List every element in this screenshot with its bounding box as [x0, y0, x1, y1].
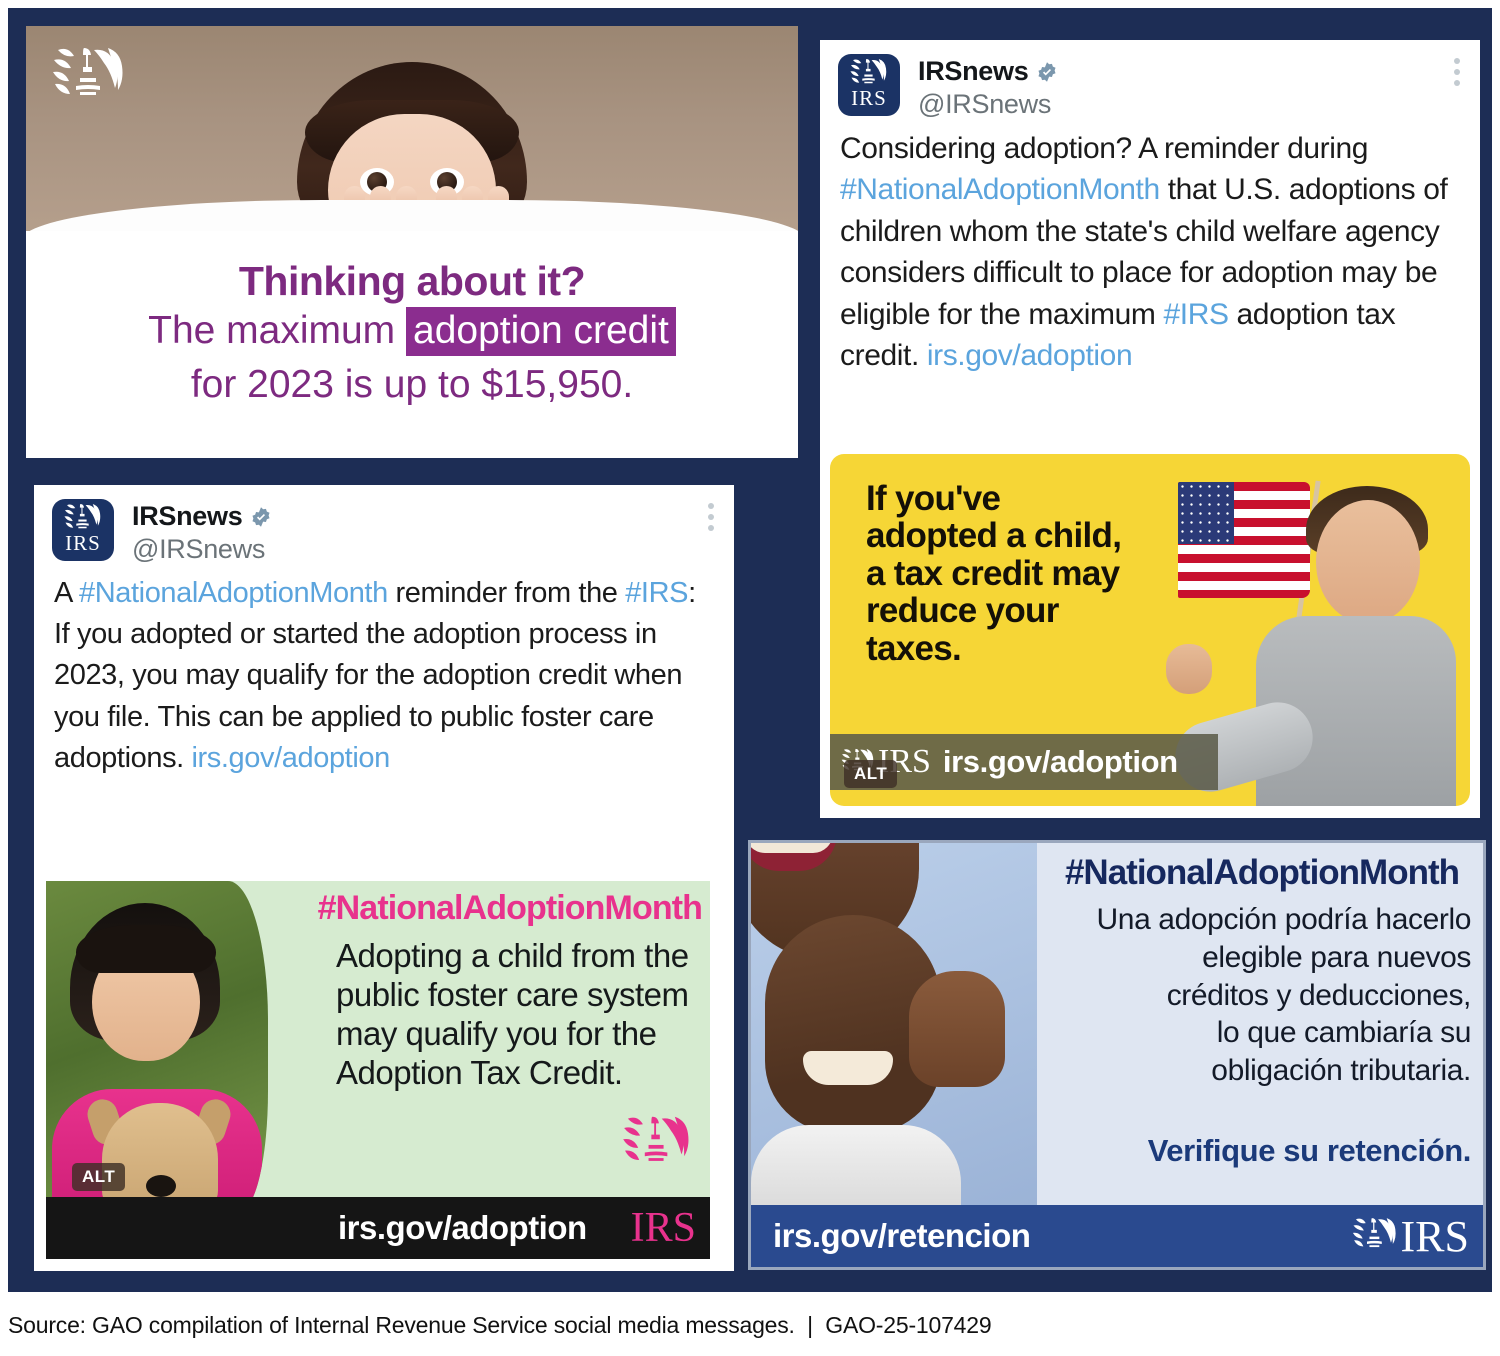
tweet-author-row: IRSnews: [918, 56, 1462, 87]
tweet-card-national-adoption-month-reminder[interactable]: IRS IRSnews @IRSnews A #NationalAdoption…: [34, 485, 734, 1271]
tweet-seg: reminder from the: [388, 577, 625, 609]
irs-seal-icon: [620, 1113, 694, 1175]
hashtag-irs[interactable]: #IRS: [625, 577, 688, 609]
verified-badge-icon: [250, 506, 272, 528]
hero-highlight: adoption credit: [406, 307, 676, 356]
tweet-author-row: IRSnews: [132, 501, 716, 532]
yellow-headline: If you've adopted a child, a tax credit …: [866, 480, 1136, 667]
verified-badge-icon: [1036, 61, 1058, 83]
avatar[interactable]: IRS: [52, 499, 114, 561]
avatar[interactable]: IRS: [838, 54, 900, 116]
avatar-irs-wordmark: IRS: [838, 86, 900, 111]
tweet-header: IRS IRSnews @IRSnews: [820, 40, 1480, 124]
source-note: Source: GAO compilation of Internal Reve…: [8, 1312, 991, 1339]
child-smile: [803, 1051, 893, 1085]
tweet-seg: A: [54, 577, 79, 609]
spanish-body-line: obligación tributaria.: [1047, 1052, 1471, 1090]
mother-hand: [909, 971, 1005, 1087]
alt-badge[interactable]: ALT: [844, 760, 897, 788]
hero-headline: Thinking about it?: [26, 259, 798, 303]
green-hashtag: #NationalAdoptionMonth: [260, 889, 702, 928]
irs-wordmark: IRS: [1401, 1211, 1469, 1262]
yellow-adoption-tax-credit-creative[interactable]: If you've adopted a child, a tax credit …: [830, 454, 1470, 806]
spanish-body-line: Una adopción podría hacerlo: [1047, 901, 1471, 939]
boy-hand: [1166, 644, 1212, 694]
tweet-display-name: IRSnews: [918, 56, 1028, 87]
irs-wordmark: IRS: [631, 1204, 696, 1252]
spanish-cta: Verifique su retención.: [1148, 1133, 1471, 1169]
hero-subline-1: The maximum adoption credit: [26, 307, 798, 355]
spanish-body-line: créditos y deducciones,: [1047, 977, 1471, 1015]
us-flag-icon: [1178, 482, 1310, 598]
kebab-menu-icon[interactable]: [708, 503, 714, 531]
figure-navy-frame: Thinking about it? The maximum adoption …: [8, 8, 1492, 1292]
spanish-footer-bar: irs.gov/retencion IRS: [751, 1205, 1483, 1267]
hero-text-block: Thinking about it? The maximum adoption …: [26, 231, 798, 458]
child-shirt: [751, 1125, 961, 1211]
avatar-irs-wordmark: IRS: [52, 531, 114, 556]
spanish-url[interactable]: irs.gov/retencion: [773, 1217, 1030, 1255]
irs-lockup: IRS: [1351, 1211, 1469, 1262]
kebab-menu-icon[interactable]: [1454, 58, 1460, 86]
mother-and-child-photo: [751, 843, 1037, 1211]
spanish-hashtag: #NationalAdoptionMonth: [1051, 853, 1473, 893]
irs-seal-icon: [1351, 1214, 1399, 1258]
tweet-link-irs-gov-adoption[interactable]: irs.gov/adoption: [192, 742, 390, 774]
tweet-body-text: A #NationalAdoptionMonth reminder from t…: [34, 569, 734, 779]
spanish-retencion-creative[interactable]: #NationalAdoptionMonth Una adopción podr…: [748, 840, 1486, 1270]
hero-subline-2: for 2023 is up to $15,950.: [26, 361, 798, 409]
tweet-body-text: Considering adoption? A reminder during …: [820, 124, 1480, 376]
hashtag-irs[interactable]: #IRS: [1163, 298, 1228, 331]
green-footer-bar: irs.gov/adoption IRS: [46, 1197, 710, 1259]
tweet-handle: @IRSnews: [132, 534, 716, 565]
boy-head: [1316, 500, 1420, 624]
tweet-link-irs-gov-adoption[interactable]: irs.gov/adoption: [927, 339, 1132, 372]
spanish-body-line: lo que cambiaría su: [1047, 1014, 1471, 1052]
green-headline: Adopting a child from the public foster …: [336, 937, 696, 1093]
spanish-body-line: elegible para nuevos: [1047, 939, 1471, 977]
girl-bangs: [76, 925, 216, 973]
green-foster-care-creative[interactable]: #NationalAdoptionMonth Adopting a child …: [46, 881, 710, 1259]
dog-nose: [146, 1175, 176, 1197]
tweet-handle: @IRSnews: [918, 89, 1462, 120]
tweet-header: IRS IRSnews @IRSnews: [34, 485, 734, 569]
spanish-body-text: Una adopción podría hacerlo elegible par…: [1047, 901, 1471, 1090]
yellow-url[interactable]: irs.gov/adoption: [943, 744, 1178, 780]
tweet-display-name: IRSnews: [132, 501, 242, 532]
alt-badge[interactable]: ALT: [72, 1163, 125, 1191]
hero-subline-prefix: The maximum: [148, 309, 406, 352]
hashtag-national-adoption-month[interactable]: #NationalAdoptionMonth: [79, 577, 388, 609]
irs-adoption-credit-hero-card: Thinking about it? The maximum adoption …: [26, 26, 798, 458]
irs-seal-icon: [50, 44, 128, 110]
green-url[interactable]: irs.gov/adoption: [338, 1209, 587, 1247]
hero-photo: [26, 26, 798, 234]
tweet-card-considering-adoption[interactable]: IRS IRSnews @IRSnews Considering adoptio…: [820, 40, 1480, 818]
tweet-seg: Considering adoption? A reminder during: [840, 132, 1368, 165]
hashtag-national-adoption-month[interactable]: #NationalAdoptionMonth: [840, 173, 1160, 206]
girl-with-dog-photo: [46, 881, 268, 1211]
